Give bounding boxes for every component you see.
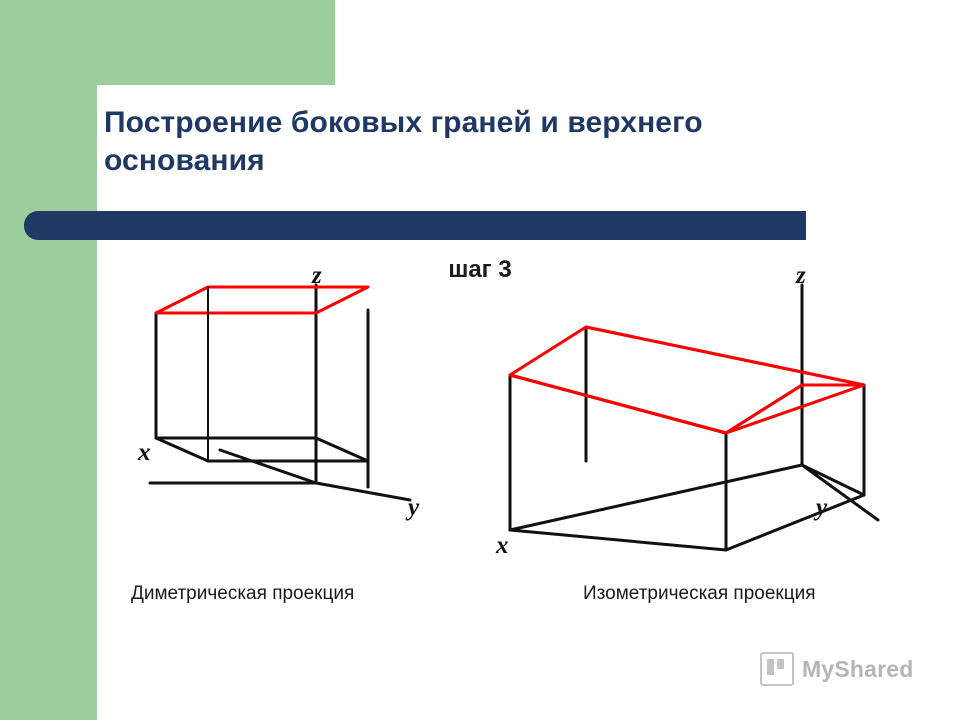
slide: Построение боковых граней и верхнего осн… (0, 0, 960, 720)
axis-label-y: y (813, 494, 828, 521)
caption-dimetric: Диметрическая проекция (131, 583, 354, 605)
title-underline-bar-cap (760, 211, 806, 240)
page-title: Построение боковых граней и верхнего осн… (104, 104, 804, 181)
isometric-projection-figure: z x y (480, 265, 900, 565)
axis-label-z: z (795, 265, 806, 289)
axis-label-x: x (495, 532, 509, 559)
axis-label-z: z (311, 265, 322, 289)
axis-label-y: y (405, 494, 420, 521)
watermark-label: MyShared (802, 656, 914, 683)
watermark: MyShared (760, 652, 914, 686)
dimetric-projection-figure: z x y (120, 265, 460, 565)
myshared-logo-icon (760, 652, 794, 686)
caption-isometric: Изометрическая проекция (583, 583, 816, 605)
green-accent-left-band (0, 0, 97, 720)
axis-label-x: x (137, 439, 151, 466)
title-underline-bar (24, 211, 806, 240)
